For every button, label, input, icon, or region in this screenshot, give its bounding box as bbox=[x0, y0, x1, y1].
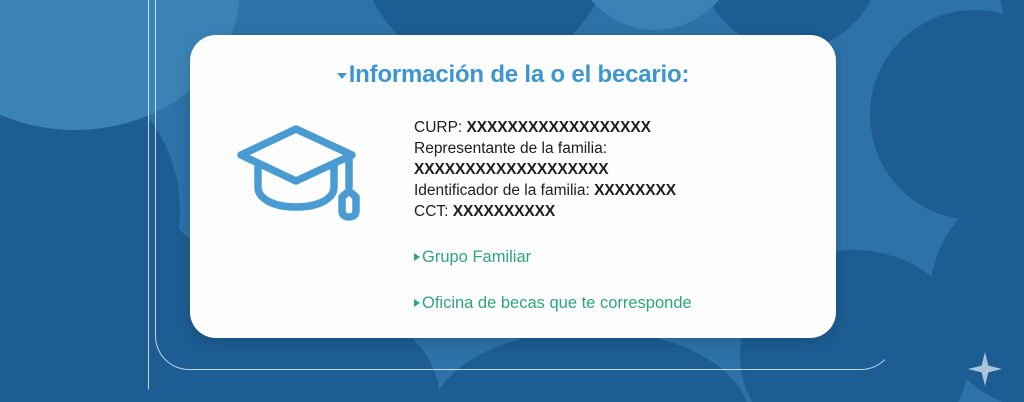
info-value: XXXXXXXX bbox=[594, 182, 676, 199]
becario-links: Grupo Familiar Oficina de becas que te c… bbox=[414, 248, 814, 338]
graduation-cap-icon bbox=[236, 113, 372, 223]
caret-down-icon[interactable] bbox=[337, 73, 347, 79]
link-oficina-becas[interactable]: Oficina de becas que te corresponde bbox=[414, 294, 814, 313]
page-title: Información de la o el becario: bbox=[190, 61, 836, 89]
link-label: Oficina de becas que te corresponde bbox=[422, 294, 692, 312]
caret-right-icon bbox=[414, 253, 420, 261]
info-value: XXXXXXXXXXXXXXXXXX bbox=[467, 119, 651, 136]
info-row-cct: CCT: XXXXXXXXXX bbox=[414, 201, 814, 222]
link-grupo-familiar[interactable]: Grupo Familiar bbox=[414, 248, 814, 267]
info-label: Identificador de la familia: bbox=[414, 182, 594, 199]
page-title-text: Información de la o el becario: bbox=[349, 61, 690, 88]
info-row-representante-label: Representante de la familia: bbox=[414, 138, 814, 159]
info-row-identificador: Identificador de la familia: XXXXXXXX bbox=[414, 180, 814, 201]
screenshot-root: Información de la o el becario: CURP: XX… bbox=[0, 0, 1024, 402]
link-label: Grupo Familiar bbox=[422, 248, 531, 266]
info-row-representante-value: XXXXXXXXXXXXXXXXXXX bbox=[414, 159, 814, 180]
becario-info-list: CURP: XXXXXXXXXXXXXXXXXX Representante d… bbox=[414, 117, 814, 222]
becario-info-card: Información de la o el becario: CURP: XX… bbox=[190, 35, 836, 338]
info-value: XXXXXXXXXX bbox=[453, 203, 555, 220]
info-row-curp: CURP: XXXXXXXXXXXXXXXXXX bbox=[414, 117, 814, 138]
caret-right-icon bbox=[414, 299, 420, 307]
info-label: CURP: bbox=[414, 119, 467, 136]
info-value: XXXXXXXXXXXXXXXXXXX bbox=[414, 161, 609, 178]
info-label: CCT: bbox=[414, 203, 453, 220]
info-label: Representante de la familia: bbox=[414, 140, 607, 157]
